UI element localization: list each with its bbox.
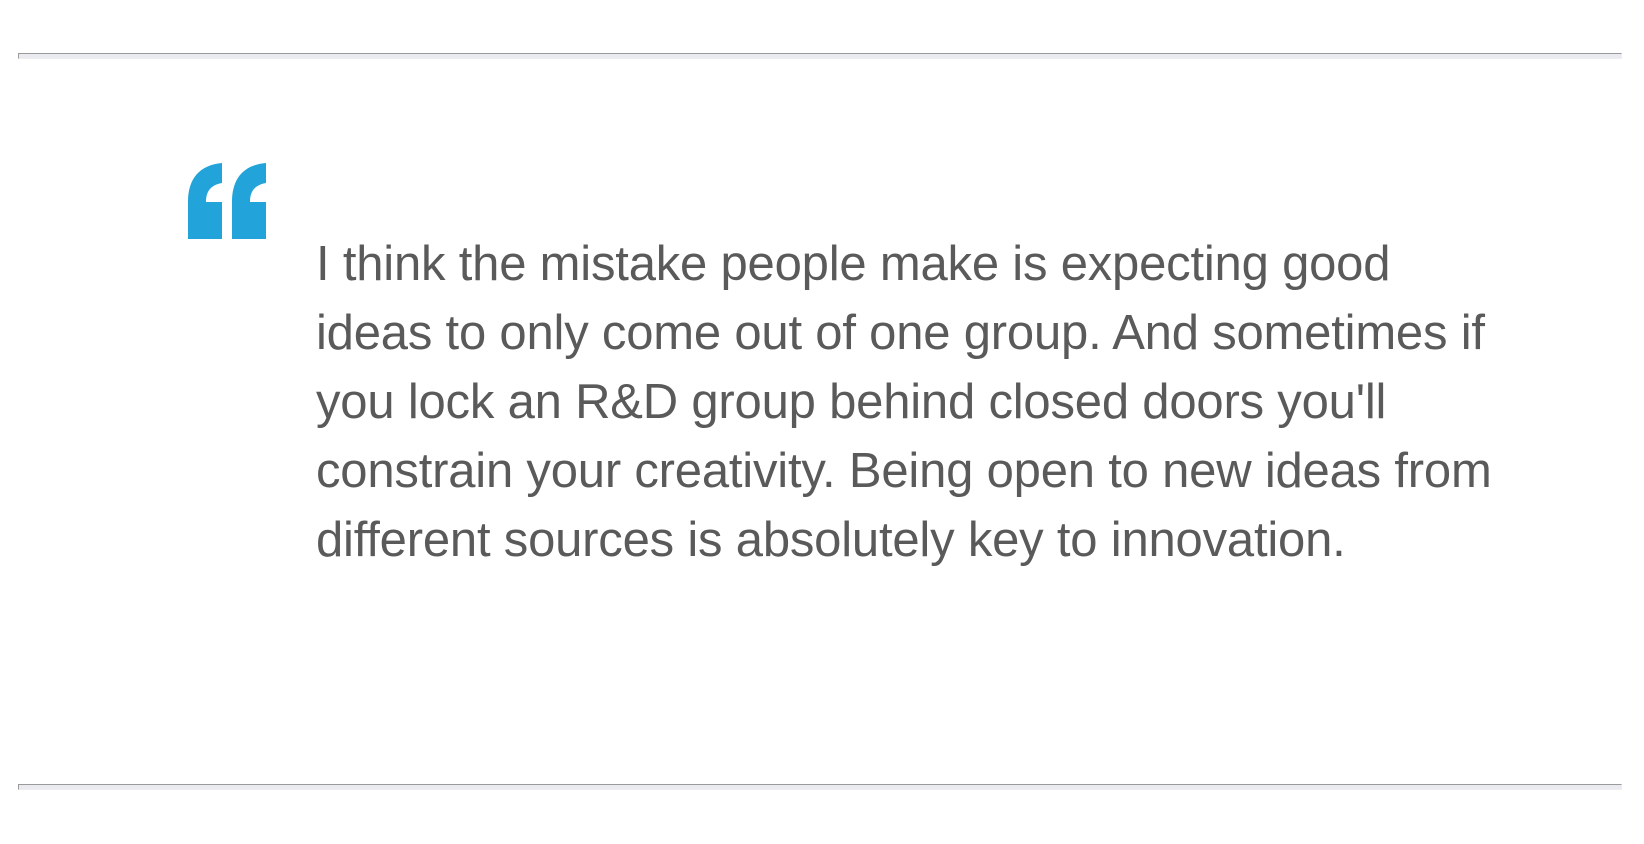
bottom-divider — [18, 784, 1622, 790]
quote-text: I think the mistake people make is expec… — [316, 230, 1496, 575]
quote-page: I think the mistake people make is expec… — [0, 0, 1644, 828]
left-double-quotation-mark-icon — [186, 156, 276, 246]
blockquote: I think the mistake people make is expec… — [40, 16, 1644, 844]
